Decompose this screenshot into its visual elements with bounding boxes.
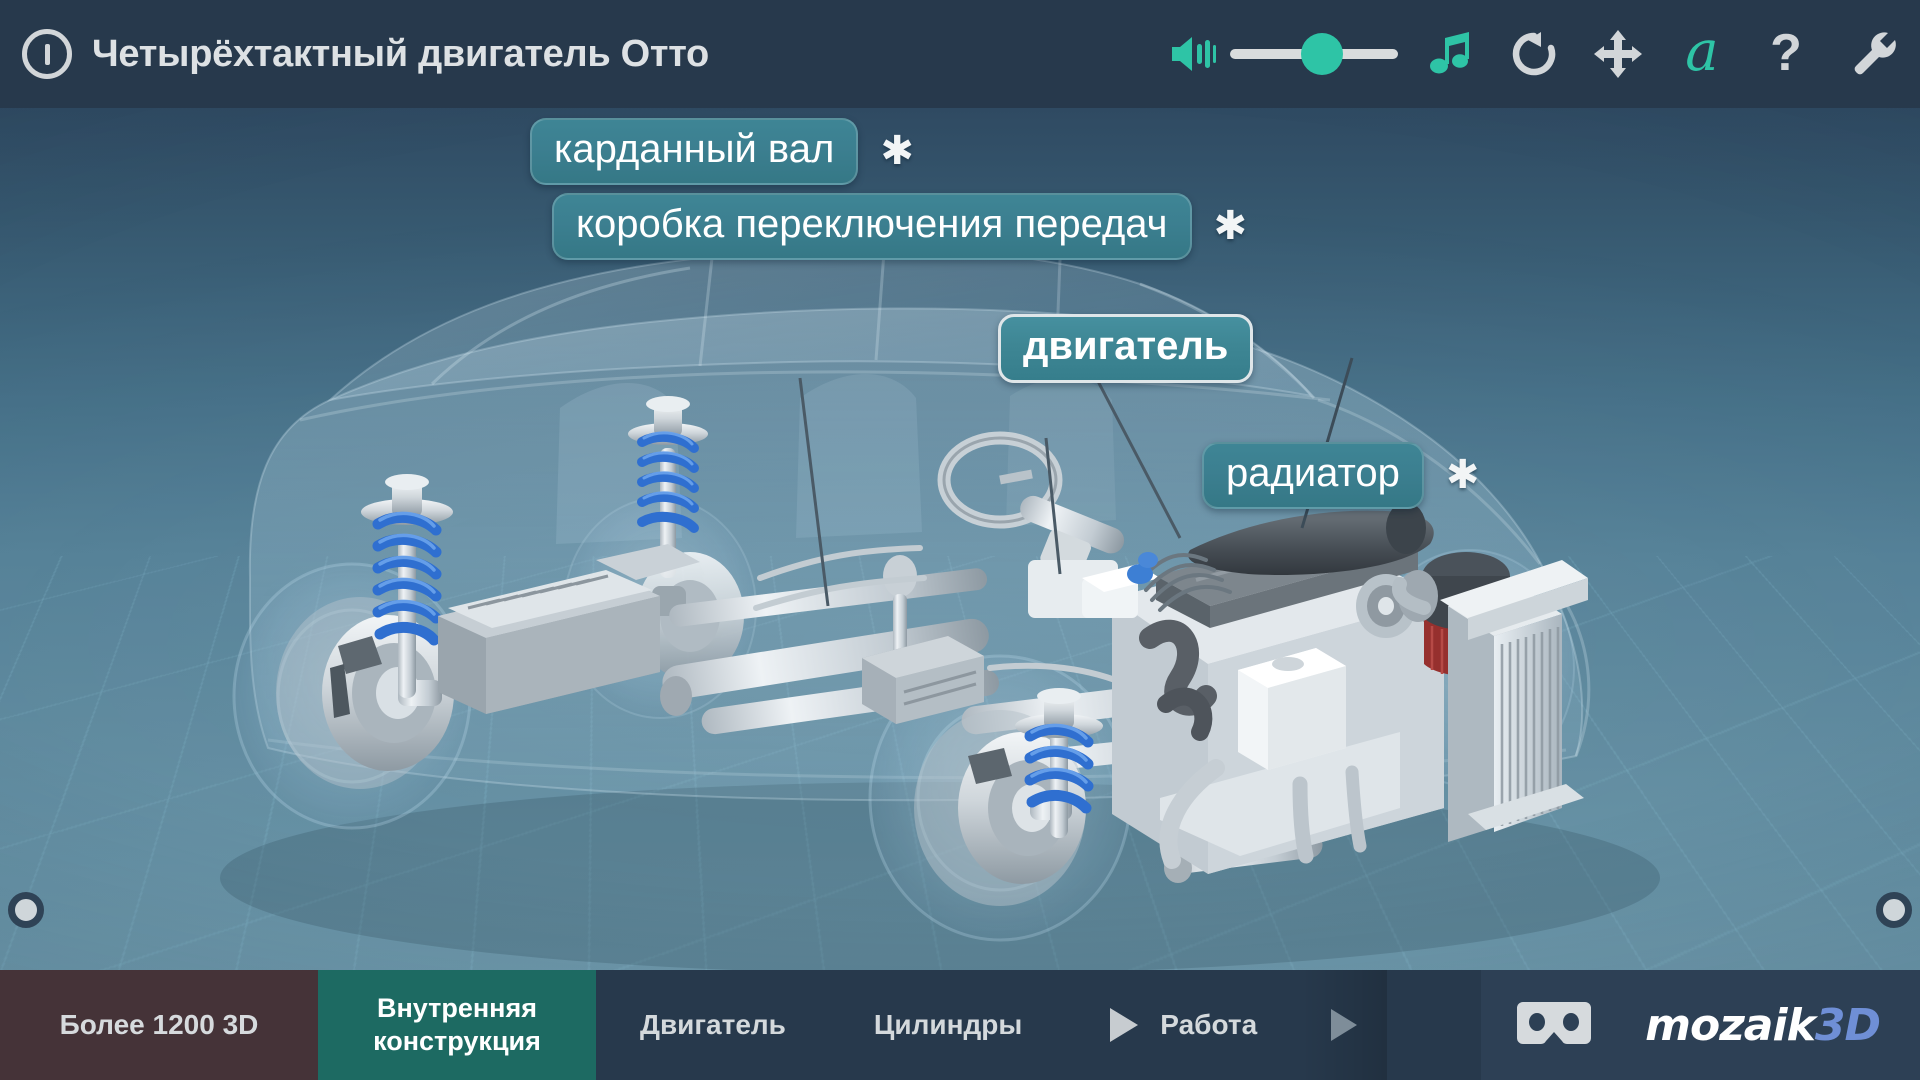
volume-icon[interactable]: [1162, 0, 1224, 108]
wrench-icon[interactable]: [1828, 0, 1920, 108]
part-label-gearbox[interactable]: коробка переключения передач: [552, 193, 1192, 260]
more-3d-button[interactable]: Более 1200 3D: [0, 970, 318, 1080]
chevron-right-icon: [1331, 1009, 1357, 1041]
info-icon-bar: [45, 44, 50, 65]
part-label-driveshaft[interactable]: карданный вал: [530, 118, 858, 185]
tab-operation[interactable]: Работа: [1066, 970, 1301, 1080]
part-labels: карданный вал ✱ коробка переключения пер…: [0, 108, 1920, 970]
text-a-icon[interactable]: a: [1660, 0, 1744, 108]
volume-slider-thumb[interactable]: [1301, 33, 1343, 75]
tab-engine[interactable]: Двигатель: [596, 970, 830, 1080]
brand-logo-mozaik: mozaik: [1645, 1000, 1815, 1051]
music-note-icon[interactable]: [1408, 0, 1492, 108]
vr-goggles-icon-glyph: [1517, 998, 1591, 1048]
tab-internal-structure[interactable]: Внутренняя конструкция: [318, 970, 596, 1080]
toolbar-tools: a ?: [1162, 0, 1920, 108]
rotate-handle-left[interactable]: [8, 892, 44, 928]
info-icon[interactable]: [22, 29, 72, 79]
play-icon: [1110, 1008, 1138, 1042]
brand-logo-3d: 3D: [1815, 1000, 1880, 1051]
help-icon[interactable]: ?: [1744, 0, 1828, 108]
vr-brand-zone: mozaik3D: [1481, 970, 1920, 1080]
help-icon-glyph: ?: [1770, 27, 1802, 79]
bottombar-spacer: [1387, 970, 1481, 1080]
volume-slider[interactable]: [1230, 34, 1398, 74]
app-root: Четырёхтактный двигатель Отто: [0, 0, 1920, 1080]
next-arrow-button[interactable]: [1301, 970, 1387, 1080]
reload-icon[interactable]: [1492, 0, 1576, 108]
reload-icon-glyph: [1510, 30, 1558, 78]
move-icon[interactable]: [1576, 0, 1660, 108]
move-icon-glyph: [1593, 29, 1643, 79]
wrench-icon-glyph: [1850, 30, 1898, 78]
label-star-gearbox[interactable]: ✱: [1214, 206, 1248, 246]
brand-logo[interactable]: mozaik3D: [1645, 1000, 1880, 1051]
part-label-engine[interactable]: двигатель: [998, 314, 1253, 383]
tab-cylinders-label: Цилиндры: [874, 1009, 1022, 1041]
label-star-radiator[interactable]: ✱: [1446, 455, 1480, 495]
volume-icon-glyph: [1170, 34, 1216, 74]
part-label-radiator[interactable]: радиатор: [1202, 442, 1424, 509]
label-star-driveshaft[interactable]: ✱: [880, 131, 914, 171]
tab-internal-structure-line2: конструкция: [373, 1025, 541, 1058]
top-toolbar: Четырёхтактный двигатель Отто: [0, 0, 1920, 108]
rotate-handle-right[interactable]: [1876, 892, 1912, 928]
text-a-icon-glyph: a: [1685, 24, 1718, 80]
tab-operation-label: Работа: [1160, 1009, 1257, 1041]
tab-cylinders[interactable]: Цилиндры: [830, 970, 1066, 1080]
label-row-driveshaft: карданный вал ✱: [530, 118, 914, 185]
tab-internal-structure-line1: Внутренняя: [377, 992, 537, 1025]
tab-engine-label: Двигатель: [640, 1009, 786, 1041]
page-title: Четырёхтактный двигатель Отто: [92, 33, 709, 76]
label-row-engine: двигатель: [998, 314, 1253, 383]
bottom-navbar: Более 1200 3D Внутренняя конструкция Дви…: [0, 970, 1920, 1080]
vr-goggles-icon[interactable]: [1517, 998, 1591, 1053]
music-note-icon-glyph: [1427, 30, 1473, 78]
label-row-radiator: радиатор ✱: [1202, 442, 1479, 509]
label-row-gearbox: коробка переключения передач ✱: [552, 193, 1247, 260]
